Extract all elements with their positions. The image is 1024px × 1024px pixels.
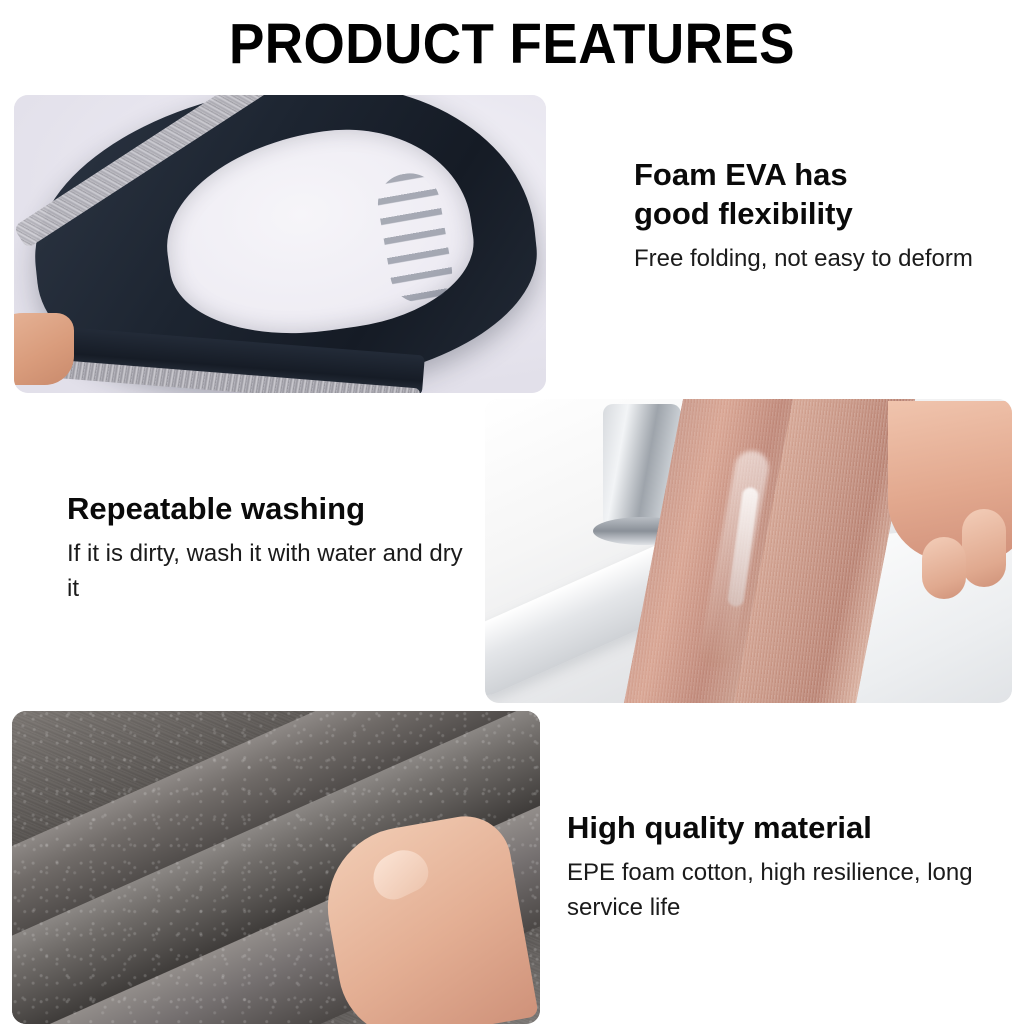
feature-body-material: EPE foam cotton, high resilience, long s… <box>567 855 1007 925</box>
finger <box>922 537 966 599</box>
feature-block-flexibility: Foam EVA has good flexibility Free foldi… <box>634 155 984 276</box>
product-features-infographic: PRODUCT FEATURES Foam EVA has good flexi… <box>0 0 1024 1024</box>
feature-heading-material: High quality material <box>567 808 1007 847</box>
feature-body-flexibility: Free folding, not easy to deform <box>634 241 984 276</box>
page-title: PRODUCT FEATURES <box>36 14 988 74</box>
feature-heading-washing: Repeatable washing <box>67 489 467 528</box>
photo-washing <box>485 399 1012 703</box>
feature-body-washing: If it is dirty, wash it with water and d… <box>67 536 467 606</box>
finger <box>962 509 1006 587</box>
feature-block-washing: Repeatable washing If it is dirty, wash … <box>67 489 467 606</box>
photo-foam-loop <box>14 95 546 393</box>
feature-heading-flexibility: Foam EVA has good flexibility <box>634 155 984 233</box>
hand-holding-foam <box>14 313 74 385</box>
photo-foam-texture <box>12 711 540 1024</box>
feature-block-material: High quality material EPE foam cotton, h… <box>567 808 1007 925</box>
